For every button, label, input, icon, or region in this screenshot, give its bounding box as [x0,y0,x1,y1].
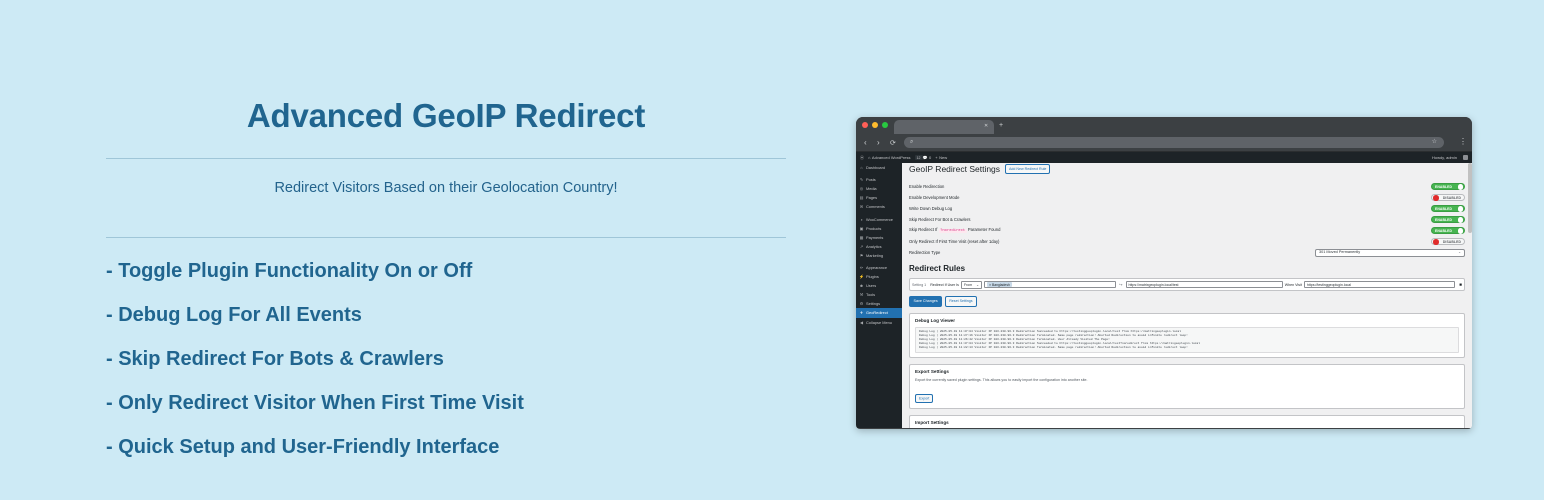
debug-log-panel: Debug Log Viewer Debug Log | 2025-05-19 … [909,313,1465,358]
setting-label: Enable Development Mode [909,195,1431,201]
toggle-skip-bots[interactable]: ENABLED [1431,216,1465,224]
list-item: - Only Redirect Visitor When First Time … [106,390,786,416]
rule-setting-index: Setting 1 [912,283,928,287]
settings-list: Enable Redirection ENABLED Enable Develo… [909,181,1465,258]
sidebar-item-georedirect[interactable]: ✈ GeoRedirect [856,308,902,317]
rule-target-url-input[interactable]: https://testinggeoplugin.local [1304,281,1455,288]
toggle-knob [1458,217,1464,223]
close-window-icon[interactable] [862,122,868,128]
setting-label: Enable Redirection [909,184,1431,190]
comments-icon: ✉ [859,202,864,211]
sidebar-item-woocommerce[interactable]: ◑ WooCommerce [856,214,902,223]
address-bar[interactable]: ⌕ ☆ [904,137,1444,148]
promo-subtitle: Redirect Visitors Based on their Geoloca… [106,159,786,215]
sidebar-item-analytics[interactable]: ↗ Analytics [856,242,902,251]
collapse-icon: ◀ [859,318,864,327]
account-area[interactable]: Howdy, admin [1432,155,1468,160]
back-icon[interactable]: ‹ [864,138,867,147]
table-row: Setting 1 Redirect If User Is From ⌄ × B… [909,278,1465,291]
sidebar-item-label: Dashboard [866,163,885,172]
updates-badge[interactable]: 12 [915,155,923,160]
sidebar-item-label: Comments [866,202,885,211]
sidebar-item-label: Pages [866,193,877,202]
toggle-enable-redirection[interactable]: ENABLED [1431,183,1465,191]
pages-icon: ▤ [859,193,864,202]
setting-row-development-mode: Enable Development Mode DISABLED [909,192,1465,203]
export-button[interactable]: Export [915,394,933,403]
sidebar-item-label: GeoRedirect [866,308,888,317]
divider-bottom [106,237,786,238]
redirection-type-value: 301 Moved Permanently [1319,250,1360,255]
toggle-knob [1458,228,1464,234]
setting-label: Skip Redirect If ?noredirect Parameter F… [909,227,1431,234]
avatar[interactable] [1463,155,1468,160]
payments-icon: ▦ [859,233,864,242]
browser-tab[interactable]: ✕ [894,120,994,134]
sidebar-item-products[interactable]: ▣ Products [856,224,902,233]
import-settings-panel: Import Settings Import the plugin settin… [909,415,1465,428]
sidebar-item-label: Collapse Menu [866,318,892,327]
sidebar-item-posts[interactable]: ✎ Posts [856,175,902,184]
maximize-window-icon[interactable] [882,122,888,128]
tools-icon: ⚒ [859,290,864,299]
sidebar-item-label: Settings [866,299,880,308]
list-item: - Debug Log For All Events [106,302,786,328]
users-icon: ☻ [859,281,864,290]
sidebar-item-comments[interactable]: ✉ Comments [856,202,902,211]
noredirect-param-code: ?noredirect [939,229,967,233]
scrollbar-thumb[interactable] [1468,163,1472,233]
plus-icon: + [935,155,937,160]
woocommerce-icon: ◑ [859,215,864,224]
traffic-lights [862,122,888,128]
export-settings-panel: Export Settings Export the currently sav… [909,364,1465,409]
toggle-knob [1458,184,1464,190]
rule-direction-select[interactable]: From ⌄ [961,281,982,289]
reset-settings-button[interactable]: Reset Settings [945,296,976,307]
feature-list: - Toggle Plugin Functionality On or Off … [106,258,786,460]
setting-label: Only Redirect If First Time Visit (reset… [909,239,1431,245]
setting-row-redirection-type: Redirection Type 301 Moved Permanently ⌄ [909,247,1465,258]
promo-panel: Advanced GeoIP Redirect Redirect Visitor… [106,96,786,478]
browser-tab-bar: ✕ + [856,117,1472,134]
sidebar-item-label: Appearance [866,263,887,272]
toggle-state-label: ENABLED [1435,185,1452,189]
wp-sidebar: ⌂ Dashboard ✎ Posts ◎ Media ▤ Pages ✉ [856,152,902,428]
forward-icon[interactable]: › [877,138,880,147]
export-settings-description: Export the currently saved plugin settin… [915,378,1459,383]
bookmark-star-icon[interactable]: ☆ [1432,139,1437,146]
settings-page-title: GeoIP Redirect Settings [909,164,1000,174]
comments-bubble[interactable]: 💬 0 [923,155,932,160]
list-item: - Skip Redirect For Bots & Crawlers [106,346,786,372]
rule-country-input[interactable]: × Bangladesh [984,281,1116,288]
list-item: - Quick Setup and User-Friendly Interfac… [106,434,786,460]
browser-window: ✕ + ‹ › ⟳ ⌕ ☆ ⋮ ⓦ ⌂ Advanced WordPress 1… [856,117,1472,429]
debug-log-box[interactable]: Debug Log | 2025-05-19 11:47:04 Visitor … [915,327,1459,353]
sidebar-item-collapse-menu[interactable]: ◀ Collapse Menu [856,318,902,327]
comments-count: 0 [929,155,931,160]
toggle-state-label: ENABLED [1435,207,1452,211]
sidebar-item-marketing[interactable]: ⚑ Marketing [856,251,902,260]
sidebar-item-tools[interactable]: ⚒ Tools [856,290,902,299]
home-icon: ⌂ [868,155,870,160]
rule-condition-label: Redirect If User Is [930,283,959,287]
gear-icon: ⚙ [859,299,864,308]
dashboard-icon: ⌂ [859,163,864,172]
setting-label-post: Parameter Found [968,227,1001,232]
redirect-rules-heading: Redirect Rules [909,264,1465,274]
site-name[interactable]: ⌂ Advanced WordPress [868,155,911,160]
sidebar-item-label: Tools [866,290,875,299]
country-tag[interactable]: × Bangladesh [987,282,1012,287]
site-name-label: Advanced WordPress [872,155,911,160]
import-settings-title: Import Settings [915,420,1459,426]
sidebar-item-label: Plugins [866,272,879,281]
close-tab-icon[interactable]: ✕ [984,124,989,129]
media-icon: ◎ [859,184,864,193]
new-tab-icon[interactable]: + [999,122,1003,129]
toggle-knob [1458,206,1464,212]
redirection-type-select[interactable]: 301 Moved Permanently ⌄ [1315,249,1465,257]
sidebar-item-label: Posts [866,175,876,184]
marketing-icon: ⚑ [859,251,864,260]
browser-nav-bar: ‹ › ⟳ ⌕ ☆ ⋮ [856,134,1472,152]
sidebar-item-media[interactable]: ◎ Media [856,184,902,193]
page-header: GeoIP Redirect Settings Add New Redirect… [909,164,1465,174]
new-content-menu[interactable]: + New [935,155,947,160]
log-line: Debug Log | 2025-05-19 11:22:13 Visitor … [919,346,1455,350]
pencil-icon: ✎ [859,175,864,184]
save-changes-button[interactable]: Save Changes [909,296,942,307]
setting-label: Skip Redirect For Bot & Crawlers [909,217,1431,223]
form-actions: Save Changes Reset Settings [909,296,1465,307]
sidebar-item-settings[interactable]: ⚙ Settings [856,299,902,308]
sidebar-item-dashboard[interactable]: ⌂ Dashboard [856,163,902,172]
toggle-development-mode[interactable]: DISABLED [1431,194,1465,202]
toggle-state-label: ENABLED [1435,229,1452,233]
sidebar-item-label: Marketing [866,251,883,260]
search-icon: ⌕ [910,139,913,146]
wp-logo-icon[interactable]: ⓦ [860,155,864,160]
sidebar-item-label: Products [866,224,881,233]
sidebar-item-payments[interactable]: ▦ Payments [856,233,902,242]
comment-icon: 💬 [923,155,928,160]
wp-admin-bar: ⓦ ⌂ Advanced WordPress 12 💬 0 + New Howd… [856,152,1472,163]
setting-label: Write Down Debug Log [909,206,1431,212]
setting-label-pre: Skip Redirect If [909,227,937,232]
appearance-icon: ✏ [859,263,864,272]
setting-row-enable-redirection: Enable Redirection ENABLED [909,181,1465,192]
toggle-knob [1433,195,1439,201]
browser-menu-icon[interactable]: ⋮ [1459,137,1467,146]
georedirect-icon: ✈ [859,308,864,317]
toggle-first-time-visit[interactable]: DISABLED [1431,238,1465,246]
delete-rule-icon[interactable]: ■ [1457,282,1462,287]
browser-viewport: ⓦ ⌂ Advanced WordPress 12 💬 0 + New Howd… [856,152,1472,428]
sidebar-item-plugins[interactable]: ⚡ Plugins [856,272,902,281]
toggle-state-label: DISABLED [1443,240,1461,244]
toggle-debug-log[interactable]: ENABLED [1431,205,1465,213]
setting-row-skip-bots: Skip Redirect For Bot & Crawlers ENABLED [909,214,1465,225]
setting-row-debug-log: Write Down Debug Log ENABLED [909,203,1465,214]
add-redirect-rule-button[interactable]: Add New Redirect Rule [1005,164,1050,174]
toggle-state-label: DISABLED [1443,196,1461,200]
rule-direction-value: From [964,283,972,287]
rule-when-visit-label: When Visit [1285,283,1302,287]
plugins-icon: ⚡ [859,272,864,281]
setting-row-first-time-visit: Only Redirect If First Time Visit (reset… [909,236,1465,247]
setting-row-skip-noredirect-param: Skip Redirect If ?noredirect Parameter F… [909,225,1465,236]
sidebar-item-label: Media [866,184,877,193]
chevron-down-icon: ⌄ [976,283,979,287]
sidebar-item-label: WooCommerce [866,215,893,224]
sidebar-item-pages[interactable]: ▤ Pages [856,193,902,202]
minimize-window-icon[interactable] [872,122,878,128]
toggle-skip-noredirect-param[interactable]: ENABLED [1431,227,1465,235]
page-title: Advanced GeoIP Redirect [106,96,786,136]
sidebar-item-label: Users [866,281,876,290]
list-item: - Toggle Plugin Functionality On or Off [106,258,786,284]
sidebar-item-appearance[interactable]: ✏ Appearance [856,263,902,272]
redirect-arrow-icon: ↪ [1118,282,1123,287]
export-settings-title: Export Settings [915,369,1459,375]
products-icon: ▣ [859,224,864,233]
page-root: Advanced GeoIP Redirect Redirect Visitor… [0,0,1544,500]
debug-log-title: Debug Log Viewer [915,318,1459,324]
wp-content-area: GeoIP Redirect Settings Add New Redirect… [902,152,1472,428]
reload-icon[interactable]: ⟳ [890,139,896,148]
vertical-scrollbar[interactable] [1468,163,1472,428]
howdy-label: Howdy, admin [1432,155,1457,160]
chevron-down-icon: ⌄ [1458,250,1461,255]
toggle-state-label: ENABLED [1435,218,1452,222]
rule-source-url-input[interactable]: https://matrixgeoplugin.local/test [1126,281,1283,288]
analytics-icon: ↗ [859,242,864,251]
toggle-knob [1433,239,1439,245]
sidebar-item-users[interactable]: ☻ Users [856,281,902,290]
setting-label: Redirection Type [909,250,1315,256]
new-label: New [939,155,947,160]
sidebar-item-label: Payments [866,233,883,242]
sidebar-item-label: Analytics [866,242,882,251]
